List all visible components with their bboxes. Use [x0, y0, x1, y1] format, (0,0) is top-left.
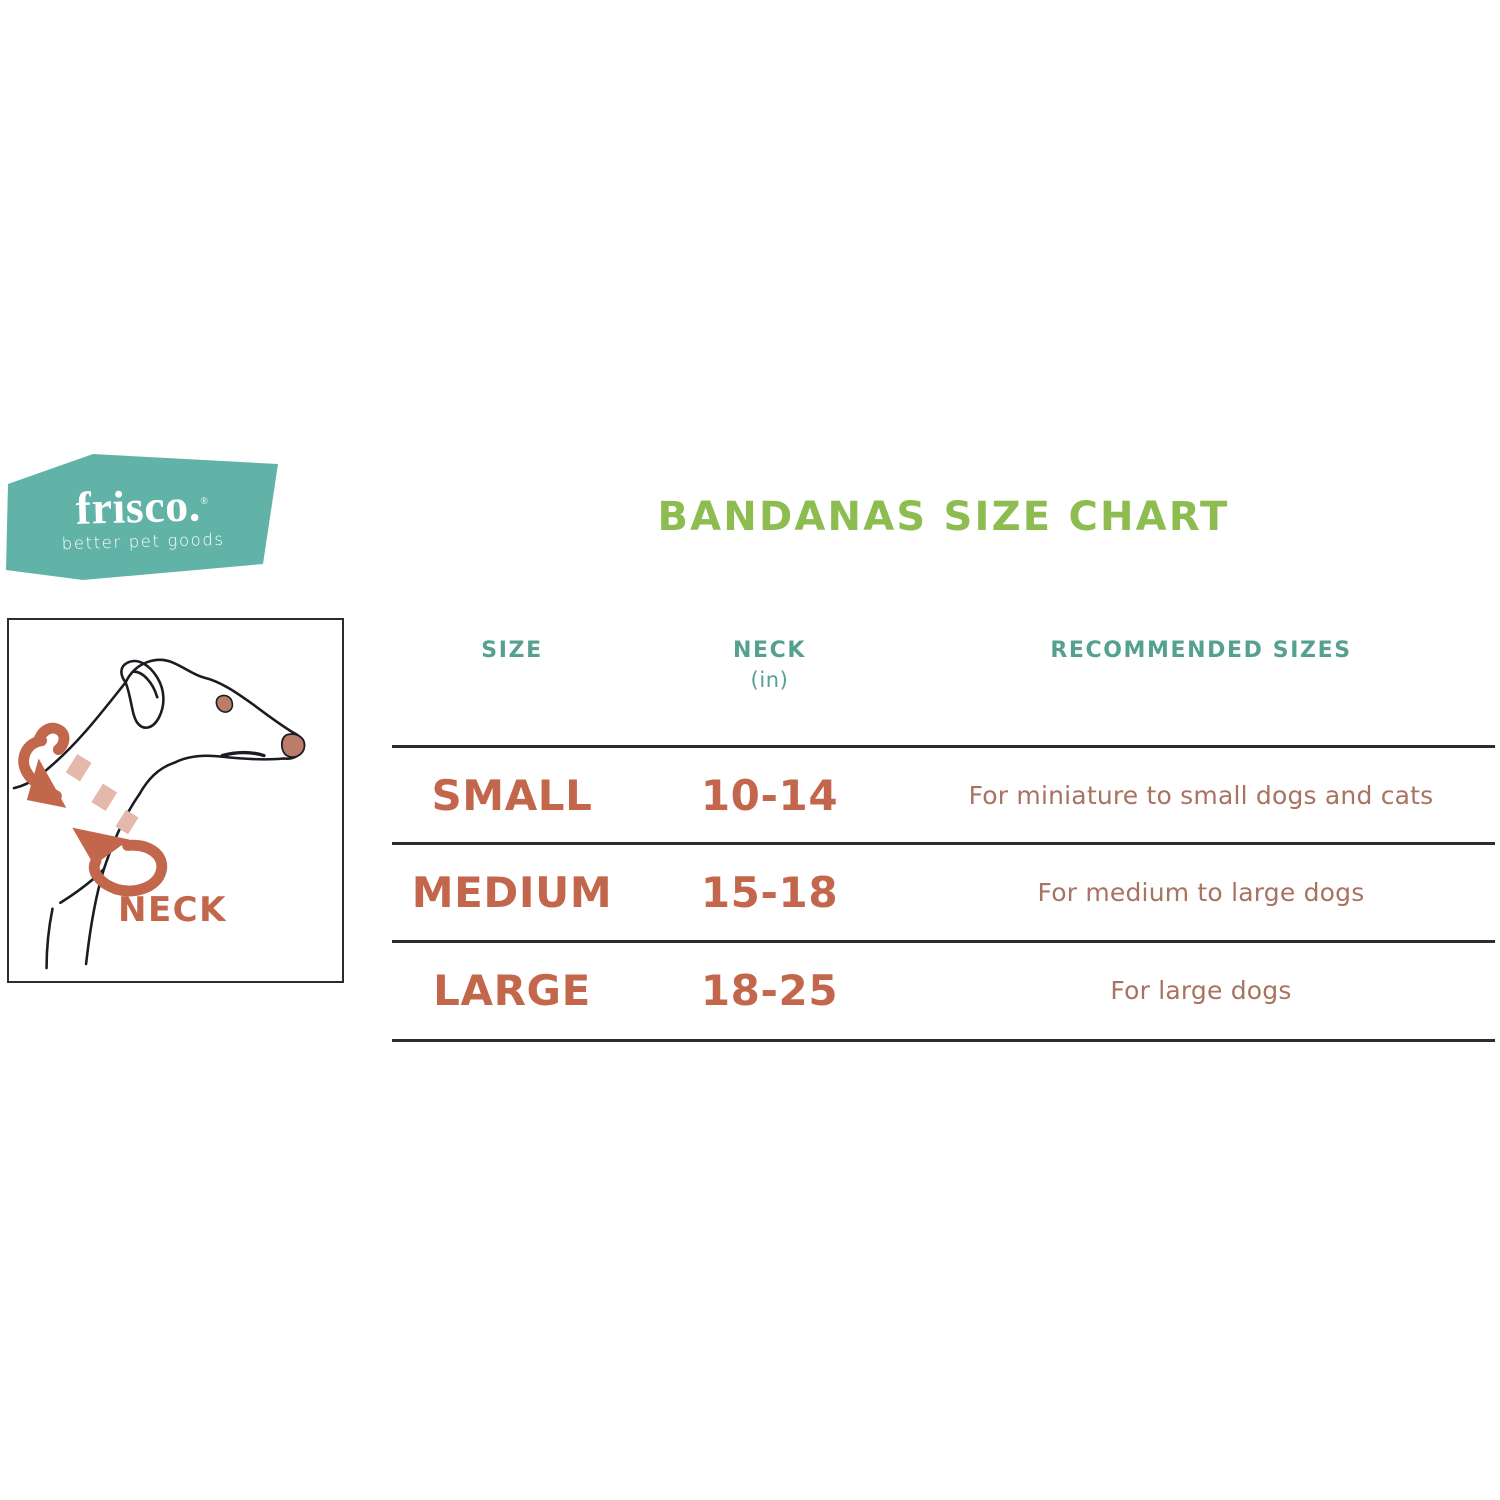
table-row: SMALL 10-14 For miniature to small dogs … — [392, 746, 1495, 845]
page-title: BANDANAS SIZE CHART — [392, 495, 1495, 539]
column-header-recommended-label: RECOMMENDED SIZES — [1050, 638, 1351, 663]
size-chart-canvas: frisco.® better pet goods — [0, 0, 1500, 1500]
column-header-recommended: RECOMMENDED SIZES — [907, 638, 1495, 665]
logo-tagline: better pet goods — [62, 531, 225, 552]
logo-wordmark: frisco.® — [75, 482, 209, 532]
neck-measure-label: NECK — [118, 893, 227, 927]
cell-neck: 18-25 — [632, 941, 907, 1040]
neck-arrow-lower-icon — [72, 828, 162, 891]
dog-mouth-icon — [222, 753, 264, 756]
column-header-neck-unit: (in) — [632, 668, 907, 694]
cell-size: LARGE — [392, 941, 632, 1040]
column-header-neck: NECK (in) — [632, 638, 907, 693]
cell-recommended: For large dogs — [907, 941, 1495, 1040]
bandana-size-table: SIZE NECK (in) RECOMMENDED SIZES SMALL 1… — [392, 630, 1495, 745]
logo-wordmark-text: frisco — [75, 479, 189, 533]
column-header-neck-label: NECK — [733, 638, 806, 663]
table-header-row: SIZE NECK (in) RECOMMENDED SIZES — [392, 630, 1495, 745]
cell-neck: 15-18 — [632, 843, 907, 942]
cell-recommended: For miniature to small dogs and cats — [907, 746, 1495, 845]
cell-size: SMALL — [392, 746, 632, 845]
frisco-logo: frisco.® better pet goods — [5, 452, 280, 582]
table-row: MEDIUM 15-18 For medium to large dogs — [392, 843, 1495, 942]
logo-text-group: frisco.® better pet goods — [3, 448, 282, 586]
column-header-size: SIZE — [392, 638, 632, 665]
cell-size: MEDIUM — [392, 843, 632, 942]
table-row: LARGE 18-25 For large dogs — [392, 941, 1495, 1040]
dog-nose-icon — [282, 734, 305, 757]
neck-arrow-upper-icon — [24, 728, 67, 808]
column-header-size-label: SIZE — [481, 638, 542, 663]
cell-recommended: For medium to large dogs — [907, 843, 1495, 942]
registered-trademark-icon: ® — [200, 496, 208, 507]
neck-dashed-measure-line — [66, 754, 139, 834]
table-rule-bottom — [392, 1039, 1495, 1042]
cell-neck: 10-14 — [632, 746, 907, 845]
dog-eye-icon — [216, 695, 232, 712]
